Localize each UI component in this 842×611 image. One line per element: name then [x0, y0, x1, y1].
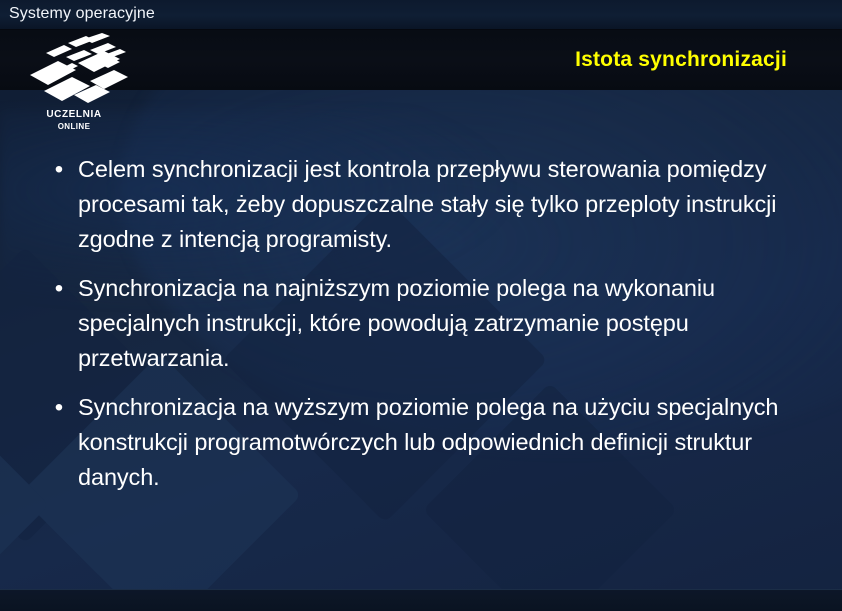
bullet-marker-icon: • [40, 271, 78, 307]
top-bar: Systemy operacyjne [0, 0, 842, 30]
bullet-item: • Synchronizacja na wyższym poziomie pol… [40, 390, 810, 495]
course-title: Systemy operacyjne [9, 4, 155, 24]
slide-content: • Celem synchronizacji jest kontrola prz… [40, 152, 810, 509]
checkered-diamond-logo-icon [16, 33, 132, 111]
bullet-marker-icon: • [40, 390, 78, 426]
bullet-marker-icon: • [40, 152, 78, 188]
bullet-text: Celem synchronizacji jest kontrola przep… [78, 152, 810, 257]
uczelnia-online-logo: UCZELNIA ONLINE [16, 33, 132, 135]
logo-name: UCZELNIA [46, 109, 101, 120]
logo-wordmark: UCZELNIA ONLINE [16, 109, 132, 132]
logo-subtitle: ONLINE [16, 121, 132, 132]
bullet-text: Synchronizacja na najniższym poziomie po… [78, 271, 810, 376]
bullet-item: • Celem synchronizacji jest kontrola prz… [40, 152, 810, 257]
page-title: Istota synchronizacji [575, 46, 787, 74]
presentation-slide: Systemy operacyjne Istota synchronizacji [0, 0, 842, 611]
bullet-item: • Synchronizacja na najniższym poziomie … [40, 271, 810, 376]
bullet-text: Synchronizacja na wyższym poziomie poleg… [78, 390, 810, 495]
bottom-strip [0, 589, 842, 611]
